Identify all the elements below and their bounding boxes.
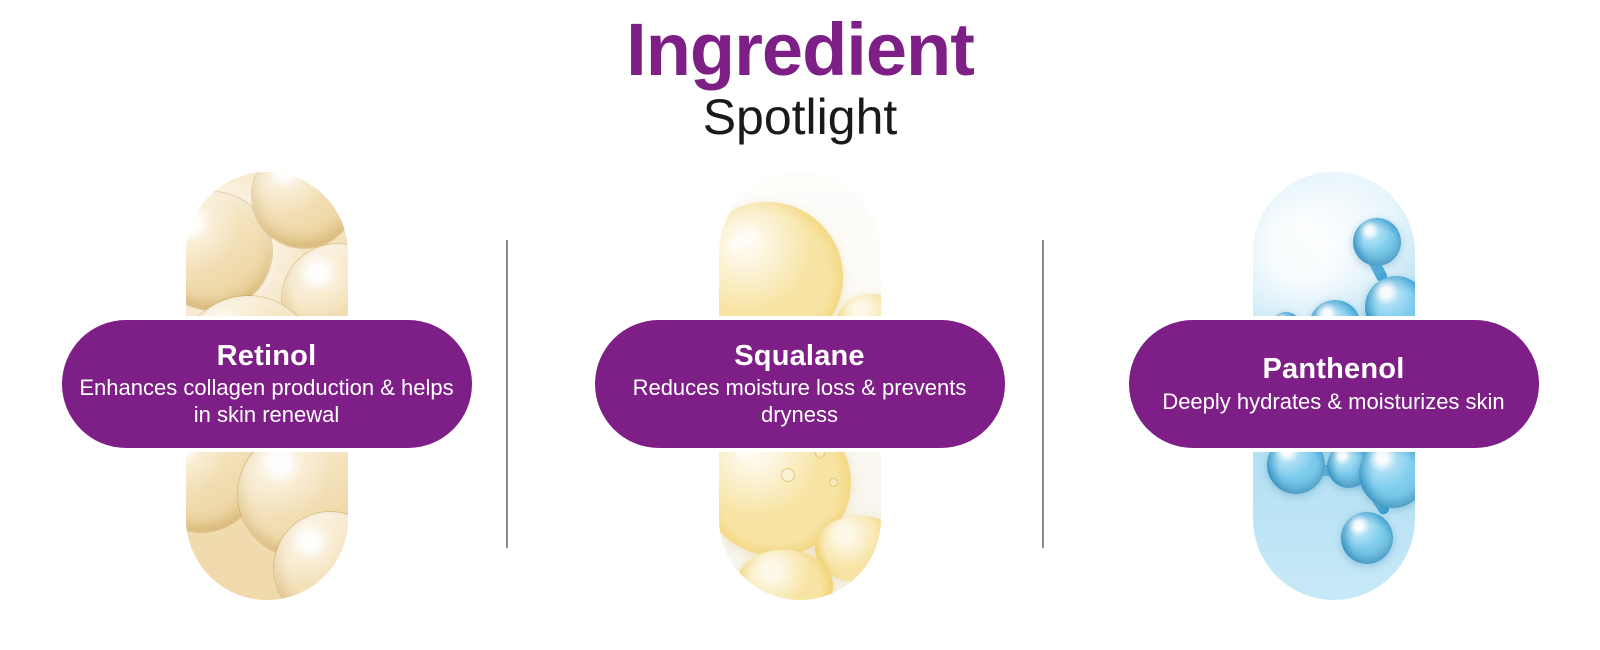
retinol-title: Retinol	[217, 340, 317, 372]
squalane-label-pill[interactable]: Squalane Reduces moisture loss & prevent…	[595, 320, 1005, 448]
ingredient-card-squalane[interactable]: Squalane Reduces moisture loss & prevent…	[533, 0, 1066, 650]
air-bubble	[781, 468, 795, 482]
squalane-title: Squalane	[734, 340, 865, 372]
divider-1	[506, 240, 508, 548]
ingredient-card-retinol[interactable]: Retinol Enhances collagen production & h…	[0, 0, 533, 650]
ingredient-spotlight-infographic: Ingredient Spotlight Retinol Enhances co…	[0, 0, 1600, 650]
ingredient-card-panthenol[interactable]: Panthenol Deeply hydrates & moisturizes …	[1067, 0, 1600, 650]
retinol-label-pill[interactable]: Retinol Enhances collagen production & h…	[62, 320, 472, 448]
retinol-description: Enhances collagen production & helps in …	[62, 375, 472, 428]
divider-2	[1042, 240, 1044, 548]
air-bubble	[829, 478, 838, 487]
air-bubble	[815, 448, 825, 458]
panthenol-title: Panthenol	[1263, 353, 1405, 385]
molecule-sphere	[1341, 512, 1393, 564]
panthenol-description: Deeply hydrates & moisturizes skin	[1146, 389, 1520, 415]
squalane-description: Reduces moisture loss & prevents dryness	[595, 375, 1005, 428]
panthenol-label-pill[interactable]: Panthenol Deeply hydrates & moisturizes …	[1129, 320, 1539, 448]
molecule-sphere	[1353, 218, 1401, 266]
